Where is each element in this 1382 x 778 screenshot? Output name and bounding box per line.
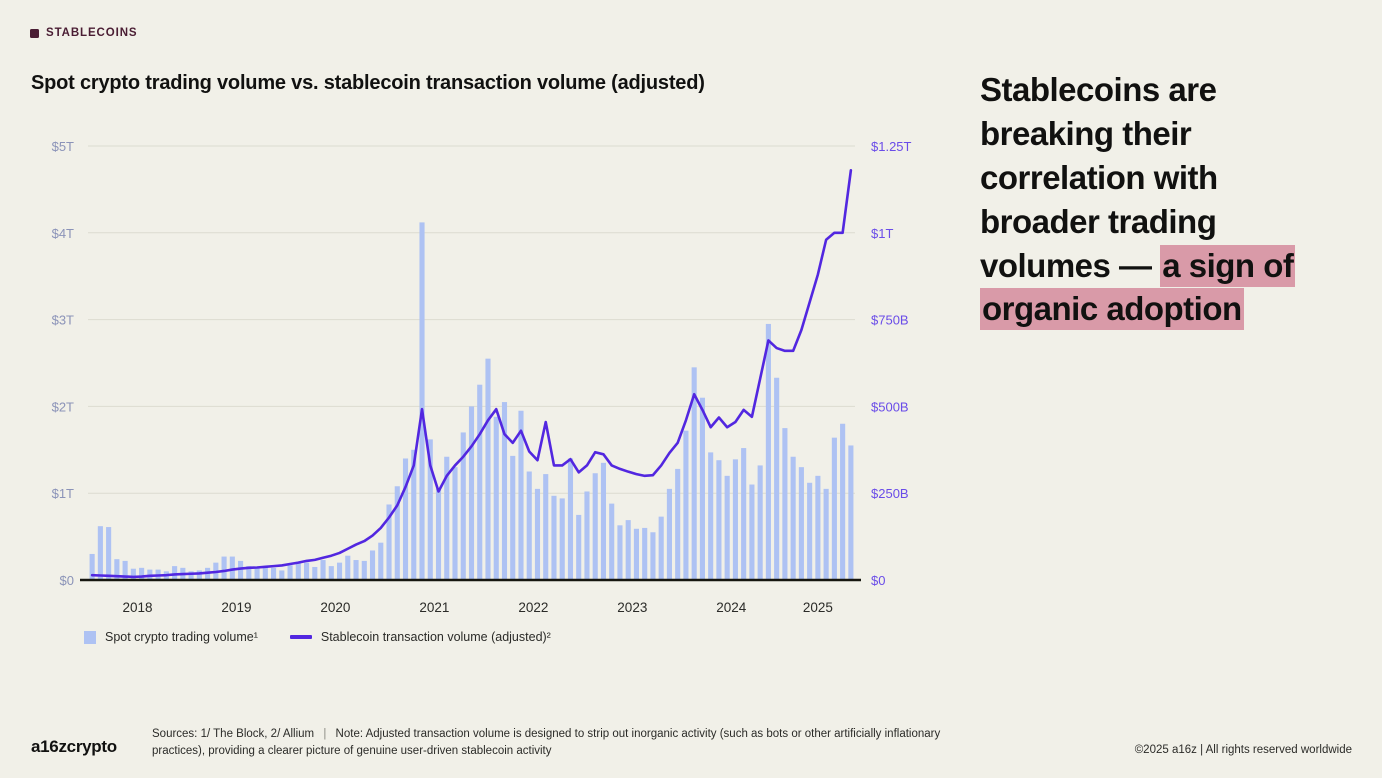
infographic-page: STABLECOINS Spot crypto trading volume v… [0,0,1382,778]
bar [312,567,317,580]
x-axis-tick-labels: 20182019202020212022202320242025 [122,600,832,615]
x-axis-tick: 2020 [320,600,350,615]
bar [741,448,746,580]
bar [758,465,763,580]
left-axis-tick: $3T [52,313,74,328]
bar [452,467,457,580]
copyright-notice: ©2025 a16z | All rights reserved worldwi… [1135,744,1352,756]
legend-item-line: Stablecoin transaction volume (adjusted)… [290,630,551,644]
bar [296,563,301,580]
footer-sources-note: Sources: 1/ The Block, 2/ Allium | Note:… [152,726,942,761]
bar [667,489,672,580]
bar [543,474,548,580]
bar [824,489,829,580]
bar [477,385,482,580]
bar [551,496,556,580]
page-title: Spot crypto trading volume vs. stablecoi… [31,72,705,95]
left-axis-tick: $0 [60,573,74,588]
bar [576,515,581,580]
bar [799,467,804,580]
bar [271,568,276,580]
bar [749,485,754,580]
bar-series-spot-volume [90,222,854,580]
bar [403,458,408,580]
bar [700,398,705,580]
chart-legend: Spot crypto trading volume¹ Stablecoin t… [84,630,551,644]
bar [807,483,812,580]
chart-container: $5T$4T$3T$2T$1T$0 $1.25T$1T$750B$500B$25… [0,120,950,620]
bar [733,459,738,580]
bar [362,561,367,580]
bar [848,445,853,580]
left-axis-tick-labels: $5T$4T$3T$2T$1T$0 [52,139,74,588]
right-axis-tick: $1T [871,226,893,241]
bar [288,565,293,580]
bar [329,566,334,580]
bar [238,561,243,580]
bar [716,460,721,580]
right-axis-tick: $1.25T [871,139,912,154]
bar [609,504,614,580]
left-axis-tick: $5T [52,139,74,154]
bar [494,417,499,580]
bar [832,438,837,580]
legend-label-bar: Spot crypto trading volume¹ [105,630,258,644]
right-axis-tick: $750B [871,313,909,328]
bar [436,489,441,580]
bar [98,526,103,580]
x-axis-tick: 2025 [803,600,833,615]
bar [560,498,565,580]
bar [510,456,515,580]
bar [815,476,820,580]
right-axis-tick: $0 [871,573,885,588]
bar [197,570,202,580]
bar [584,491,589,580]
bar [353,560,358,580]
x-axis-tick: 2023 [617,600,647,615]
bar [568,458,573,580]
right-axis-tick-labels: $1.25T$1T$750B$500B$250B$0 [871,139,912,588]
legend-item-bar: Spot crypto trading volume¹ [84,630,258,644]
bar [642,528,647,580]
bar [279,570,284,580]
bar [626,520,631,580]
x-axis-tick: 2024 [716,600,747,615]
footer-separator: | [317,728,332,740]
square-icon [30,29,39,38]
bar [683,431,688,580]
bar [634,529,639,580]
bar [725,476,730,580]
brand-logo: a16zcrypto [31,737,117,757]
legend-swatch-bar-icon [84,631,96,644]
bar [222,557,227,580]
bar [650,532,655,580]
legend-label-line: Stablecoin transaction volume (adjusted)… [321,630,551,644]
bar [378,543,383,580]
bar [106,527,111,580]
bar [766,324,771,580]
bar [840,424,845,580]
bar [708,452,713,580]
bar [345,556,350,580]
x-axis-tick: 2018 [122,600,152,615]
left-axis-tick: $2T [52,399,74,414]
bar [601,463,606,580]
bar [131,569,136,580]
bar [263,567,268,580]
bar [659,517,664,580]
bar [255,568,260,580]
bar [527,472,532,581]
bar [774,378,779,580]
bar [337,563,342,580]
bar [304,563,309,580]
bar [593,473,598,580]
bar [419,222,424,580]
category-tag: STABLECOINS [30,27,137,39]
right-axis-tick: $500B [871,399,909,414]
bar [469,406,474,580]
bar [782,428,787,580]
bar [172,566,177,580]
bar [675,469,680,580]
headline: Stablecoins are breaking their correlati… [980,68,1340,331]
bar [139,568,144,580]
footer-sources: Sources: 1/ The Block, 2/ Allium [152,728,314,740]
bar [370,550,375,580]
bar [617,525,622,580]
x-axis-tick: 2019 [221,600,251,615]
right-axis-tick: $250B [871,486,909,501]
category-label: STABLECOINS [46,27,137,39]
x-axis-tick: 2021 [419,600,449,615]
bar [485,359,490,580]
bar [320,560,325,580]
combo-chart: $5T$4T$3T$2T$1T$0 $1.25T$1T$750B$500B$25… [0,120,950,620]
bar [535,489,540,580]
left-axis-tick: $4T [52,226,74,241]
x-axis-tick: 2022 [518,600,548,615]
bar [791,457,796,580]
left-axis-tick: $1T [52,486,74,501]
legend-swatch-line-icon [290,635,312,639]
